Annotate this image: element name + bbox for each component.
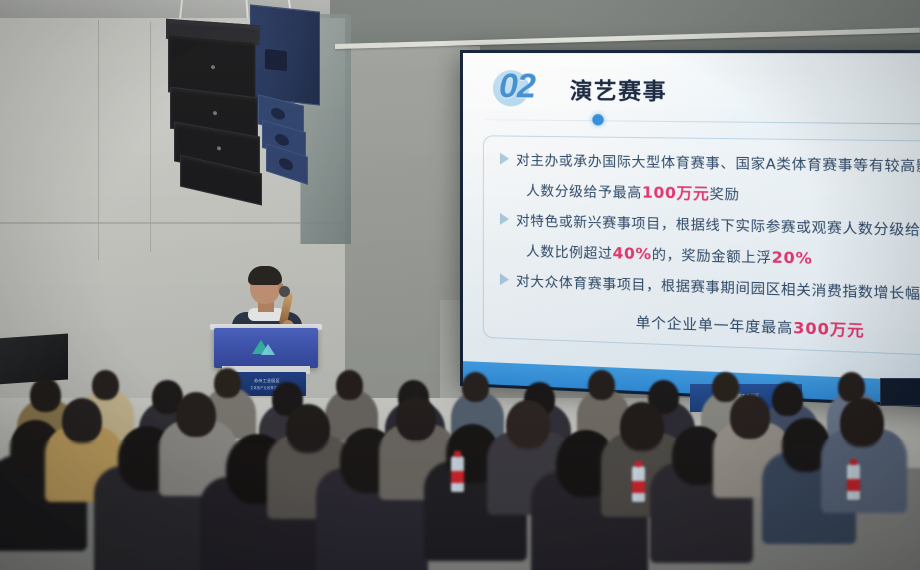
speaker-port [275, 132, 289, 147]
speaker-badge [211, 65, 215, 69]
bullet-triangle-icon [500, 273, 509, 285]
blue-speaker-cabinet [250, 4, 320, 105]
audience-person-head [396, 396, 436, 441]
speaker-badge [213, 111, 217, 115]
audience-person-head [286, 404, 330, 453]
bullet-triangle-icon [500, 153, 509, 165]
audience-person-head [772, 382, 803, 416]
audience-person-head [506, 400, 550, 449]
speaker-port [279, 156, 293, 172]
presenter-hair [248, 266, 282, 285]
audience-person-head [62, 398, 102, 443]
cabinet-vent [265, 49, 287, 71]
slide-title-group: 02 演艺赛事 [493, 67, 667, 113]
bottle-cap [850, 459, 857, 465]
section-number: 02 [499, 67, 535, 106]
audience-person-head [92, 370, 119, 400]
audience-person-head [176, 392, 216, 437]
water-bottle [451, 456, 464, 492]
speaker-badge [217, 146, 221, 151]
audience-person-head [336, 370, 363, 400]
bullet-triangle-icon [500, 213, 509, 225]
bullet-item: 对主办或承办国际大型体育赛事、国家A类体育赛事等有较高影 [500, 149, 920, 176]
bottle-label [451, 471, 464, 483]
conference-photo: 02 演艺赛事 对主办或承办国际大型体育赛事、国家A类体育赛事等有较高影 人数分… [0, 0, 920, 570]
presentation-slide: 02 演艺赛事 对主办或承办国际大型体育赛事、国家A类体育赛事等有较高影 人数分… [463, 53, 920, 406]
microphone-head [279, 286, 290, 297]
footnote-highlight: 300万元 [793, 319, 865, 340]
highlight-percent-2: 20% [772, 248, 813, 268]
audience-person-head [840, 398, 884, 447]
bullet-text: 对特色或新兴赛事项目，根据线下实际参赛或观赛人数分级给 [516, 209, 920, 239]
audience-person-head [730, 394, 770, 439]
water-bottle [847, 464, 860, 500]
audience-crowd [0, 368, 920, 570]
section-number-badge: 02 [493, 67, 560, 112]
highlight-amount: 100万元 [642, 183, 710, 203]
projection-screen: 02 演艺赛事 对主办或承办国际大型体育赛事、国家A类体育赛事等有较高影 人数分… [460, 50, 920, 409]
podium [214, 328, 318, 368]
audience-person-head [620, 402, 664, 451]
bottle-label [847, 479, 860, 491]
wall-seam [98, 20, 99, 260]
audience-person-head [712, 372, 739, 402]
subline-prefix: 人数分级给予最高 [526, 183, 642, 201]
subline-suffix: 奖励 [710, 186, 740, 203]
bullet-subline: 人数比例超过40%的，奖励金额上浮20% [526, 240, 812, 268]
speaker-port [271, 107, 285, 121]
bullet-text: 对主办或承办国际大型体育赛事、国家A类体育赛事等有较高影 [516, 149, 920, 176]
bottle-label [632, 481, 645, 493]
subline-prefix: 人数比例超过 [526, 244, 613, 263]
podium-logo-icon-2 [261, 344, 275, 355]
bullet-item: 对大众体育赛事项目，根据赛事期间园区相关消费指数增长幅 [500, 269, 920, 303]
line-array-speaker [150, 0, 340, 196]
audience-person-head [214, 368, 241, 398]
bullet-text: 对大众体育赛事项目，根据赛事期间园区相关消费指数增长幅 [516, 270, 920, 303]
suspension-wire [245, 0, 248, 18]
title-dot-marker [592, 114, 603, 125]
water-bottle [632, 466, 645, 502]
audience-person-head [30, 378, 61, 412]
audience-person-head [588, 370, 615, 400]
highlight-percent: 40% [613, 244, 652, 263]
bullet-subline: 人数分级给予最高100万元奖励 [526, 179, 739, 205]
audience-person-head [462, 372, 489, 402]
wall-seam [0, 222, 345, 224]
subline-middle: 的，奖励金额上浮 [652, 247, 772, 267]
page-title: 演艺赛事 [570, 73, 667, 106]
bottle-cap [454, 451, 461, 457]
bullet-item: 对特色或新兴赛事项目，根据线下实际参赛或观赛人数分级给 [500, 209, 920, 239]
bottle-cap [635, 461, 642, 467]
